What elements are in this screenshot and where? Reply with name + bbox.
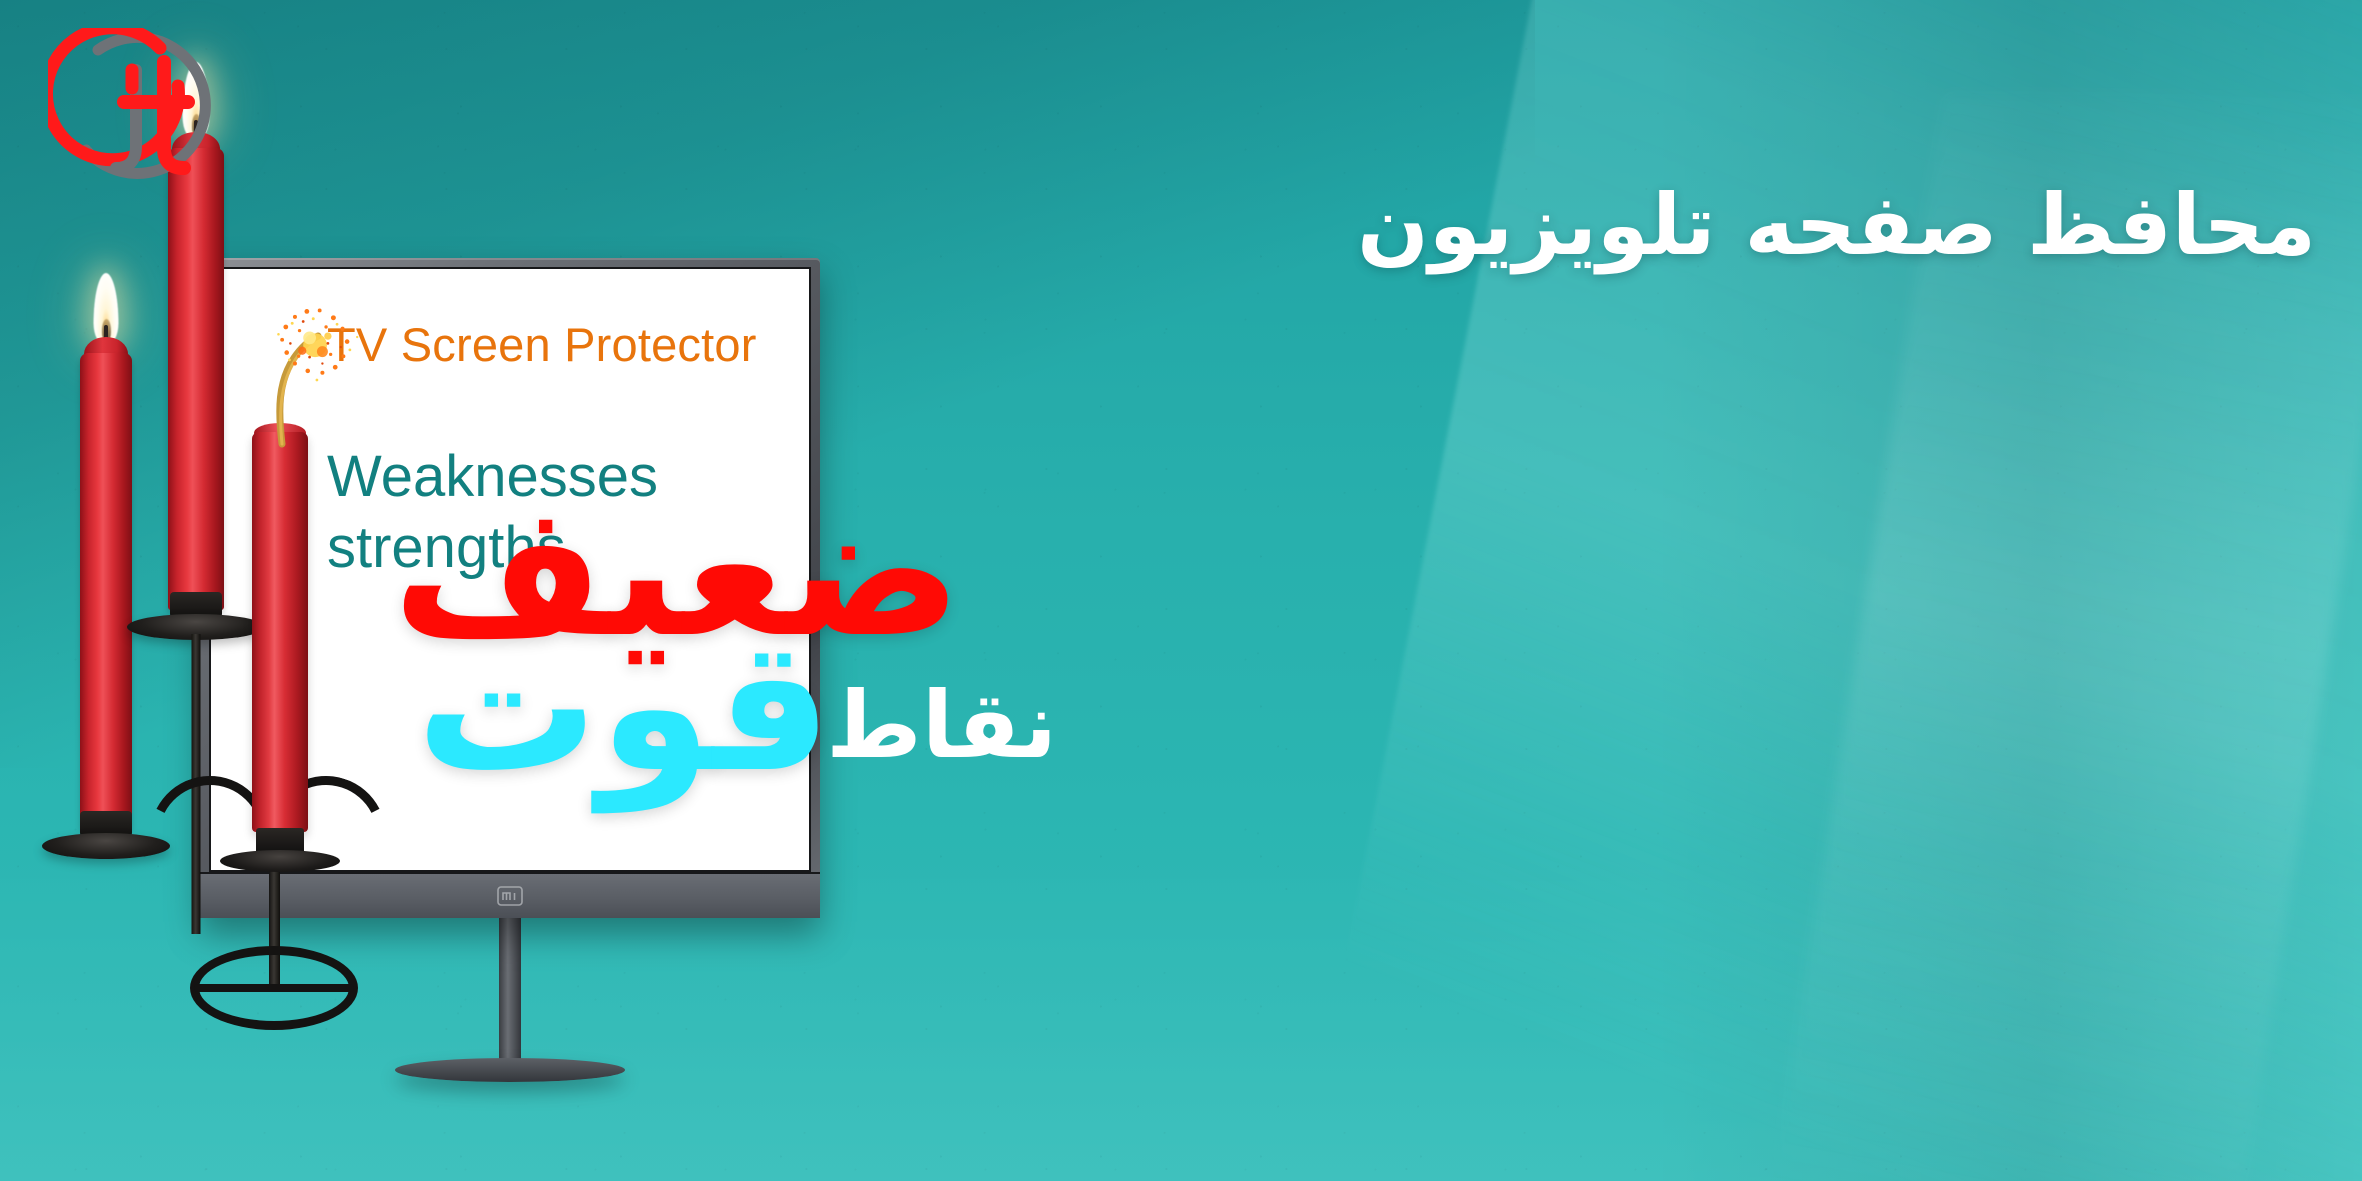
brand-logo[interactable] [48, 28, 218, 198]
jt-logo-icon [48, 28, 218, 198]
persian-word-strong: قوت [416, 615, 832, 797]
persian-headline: محافظ صفحه تلویزیون [1357, 176, 2316, 274]
persian-label-noghat: نقاط [826, 680, 1057, 772]
tv-stand-base [395, 1058, 625, 1082]
dynamite-holder-plate [220, 850, 340, 872]
dynamite-stick [252, 432, 308, 832]
tv-chin [200, 872, 820, 918]
mi-logo-icon [497, 886, 523, 906]
banner-canvas: TV Screen Protector Weaknesses strengths [0, 0, 2362, 1181]
tv-stand-neck [499, 918, 521, 1068]
slide-title: TV Screen Protector [327, 321, 773, 368]
fuse-spark-icon [262, 298, 370, 398]
dynamite-body [252, 432, 308, 832]
